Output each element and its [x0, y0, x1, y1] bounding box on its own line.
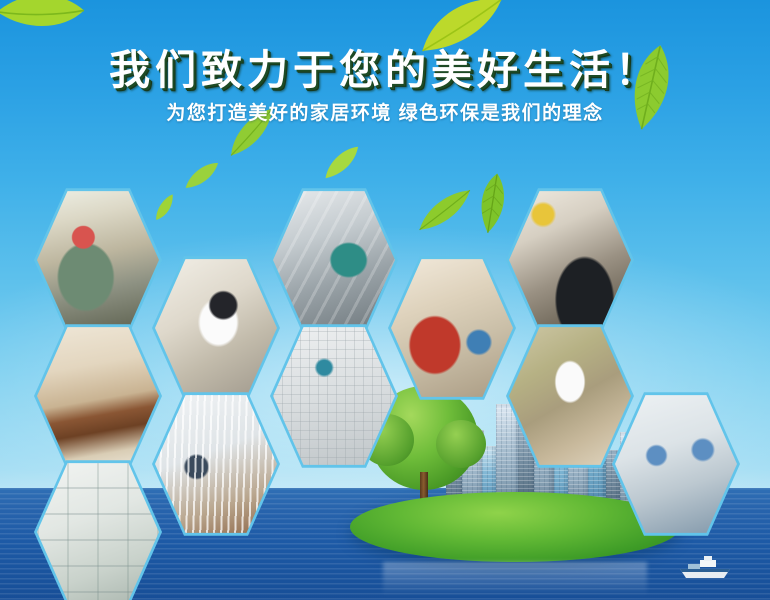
photo-image — [37, 325, 159, 467]
photo-hex-worker-tiling-counter[interactable] — [34, 186, 162, 334]
photo-frame — [155, 257, 277, 399]
photo-image — [391, 257, 513, 399]
photo-frame — [391, 257, 513, 399]
photo-frame — [273, 189, 395, 331]
leaf-center-upright — [469, 169, 515, 236]
page-title: 我们致力于您的美好生活！ — [0, 36, 770, 96]
photo-image — [37, 461, 159, 600]
leaf-bottom-left-tiny — [148, 193, 182, 223]
photo-hex-duct-cleaning-ceiling[interactable] — [270, 186, 398, 334]
island-reflection — [383, 562, 647, 596]
leaf-mid-small — [317, 145, 366, 182]
photo-image — [273, 189, 395, 331]
promo-banner: 我们致力于您的美好生活！ 为您打造美好的家居环境 绿色环保是我们的理念 — [0, 0, 770, 600]
photo-hex-carpet-shampoo-machine[interactable] — [388, 254, 516, 402]
photo-image — [37, 189, 159, 331]
photo-frame — [509, 189, 631, 331]
photo-frame — [37, 189, 159, 331]
photo-hex-kitchen-hood-degreasing[interactable] — [506, 186, 634, 334]
photo-frame — [37, 461, 159, 600]
leaf-center-float — [411, 187, 479, 235]
photo-hex-handrail-refinishing[interactable] — [34, 322, 162, 470]
leaf-under-title-mid — [180, 161, 224, 191]
photo-frame — [37, 325, 159, 467]
photo-image — [509, 189, 631, 331]
page-subtitle: 为您打造美好的家居环境 绿色环保是我们的理念 — [0, 98, 770, 125]
photo-image — [155, 257, 277, 399]
photo-hex-staff-mopping-stairs[interactable] — [152, 254, 280, 402]
boat-icon — [674, 556, 736, 582]
